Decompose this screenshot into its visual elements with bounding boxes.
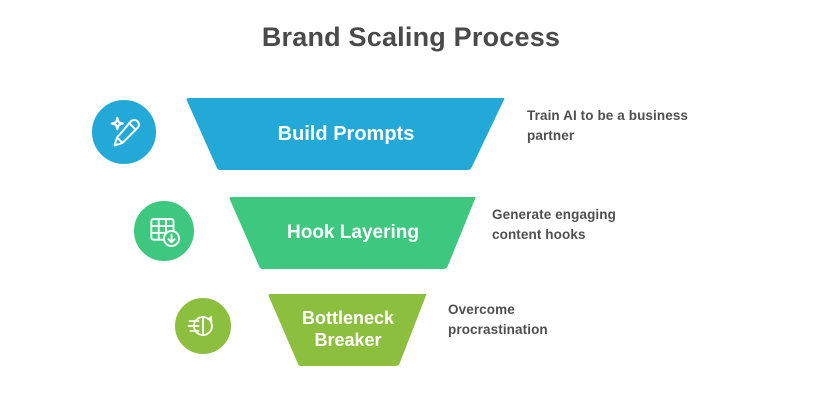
table-download-icon [145,212,183,250]
stage-2-annotation: Generate engaging content hooks [492,205,667,244]
speed-rotate-icon [185,308,221,344]
stage-3-annotation: Overcome procrastination [448,300,598,339]
stage-3-band[interactable]: Bottleneck Breaker [260,291,436,369]
stage-1-band[interactable]: Build Prompts [178,95,514,173]
magic-pencil-icon [104,112,144,152]
stage-3-icon-badge[interactable] [172,295,234,357]
infographic-canvas: Brand Scaling Process Build Prompts Trai… [0,0,822,414]
page-title: Brand Scaling Process [0,22,822,53]
stage-1-icon-badge[interactable] [89,97,159,167]
stage-2-band[interactable]: Hook Layering [221,194,485,272]
stage-2-icon-badge[interactable] [131,198,197,264]
stage-1-annotation: Train AI to be a business partner [527,106,707,145]
